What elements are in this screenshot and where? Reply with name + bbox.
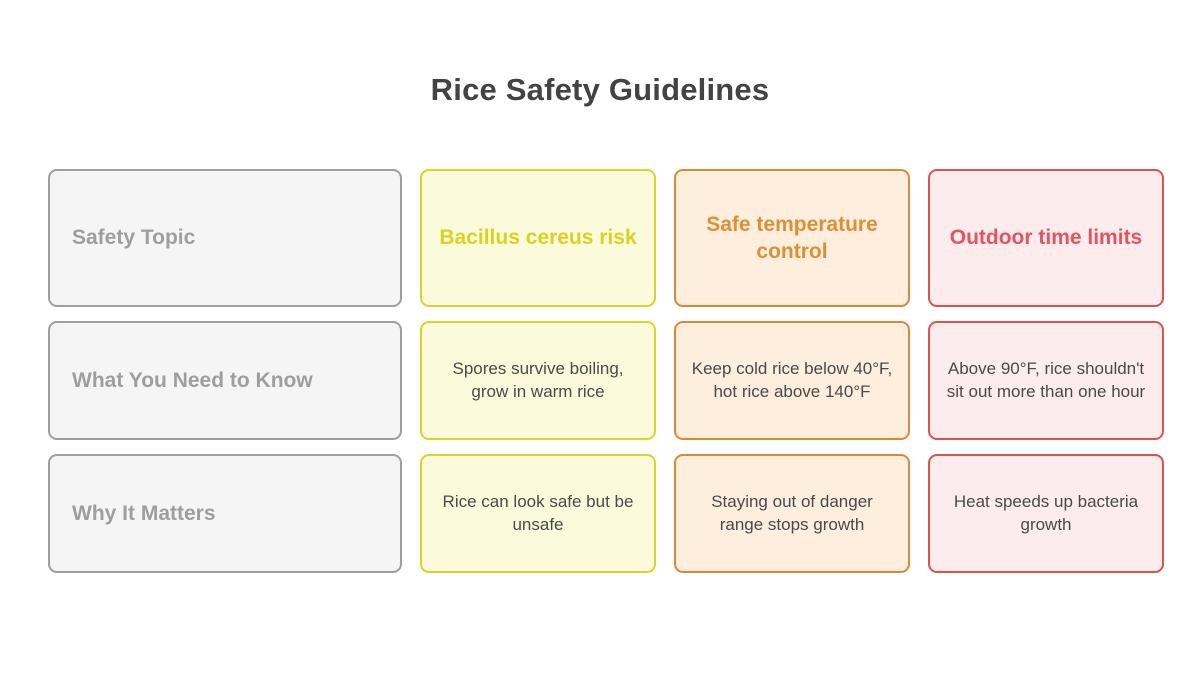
table-cell-outdoor-matters: Heat speeds up bacteria growth [928,454,1164,573]
watermark [640,598,1140,648]
column-header-safe-temperature-control: Safe temperature control [674,169,910,307]
column-header-outdoor-time-limits: Outdoor time limits [928,169,1164,307]
table-cell-bacillus-matters: Rice can look safe but be unsafe [420,454,656,573]
row-label-what-you-need-to-know: What You Need to Know [48,321,402,440]
page-title: Rice Safety Guidelines [0,72,1200,108]
table-cell-bacillus-know: Spores survive boiling, grow in warm ric… [420,321,656,440]
table-cell-temperature-matters: Staying out of danger range stops growth [674,454,910,573]
table-cell-outdoor-know: Above 90°F, rice shouldn't sit out more … [928,321,1164,440]
column-header-bacillus-cereus-risk: Bacillus cereus risk [420,169,656,307]
row-label-why-it-matters: Why It Matters [48,454,402,573]
comparison-table: Safety Topic Bacillus cereus risk Safe t… [48,169,1152,573]
row-label-safety-topic: Safety Topic [48,169,402,307]
table-cell-temperature-know: Keep cold rice below 40°F, hot rice abov… [674,321,910,440]
